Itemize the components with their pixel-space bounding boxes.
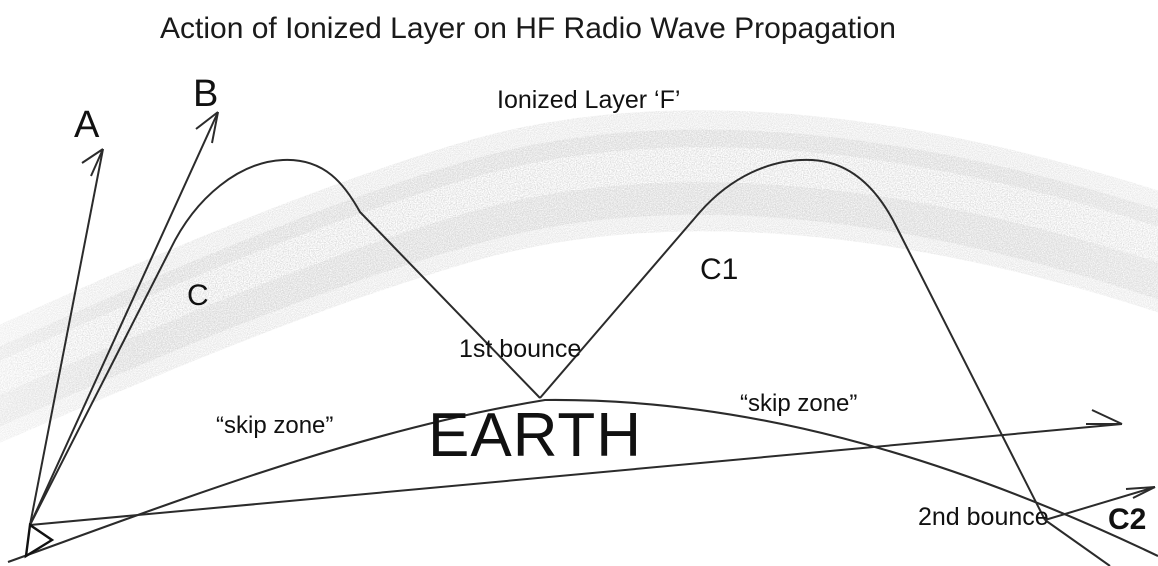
- skip-zone-label-right: “skip zone”: [740, 392, 857, 416]
- ray-label-b: B: [193, 75, 218, 113]
- skip-zone-label-left: “skip zone”: [216, 414, 333, 438]
- propagation-diagram-svg: [0, 0, 1158, 566]
- second-bounce-label: 2nd bounce: [918, 505, 1049, 530]
- ray-past-second-bounce: [1045, 520, 1110, 566]
- first-bounce-label: 1st bounce: [459, 337, 581, 362]
- hop-label-c1: C1: [700, 255, 738, 285]
- page-title: Action of Ionized Layer on HF Radio Wave…: [160, 14, 896, 44]
- ionized-layer-label: Ionized Layer ‘F’: [497, 88, 680, 113]
- ray-label-a: A: [74, 106, 99, 144]
- ray-label-c: C: [187, 281, 209, 311]
- hop-label-c2: C2: [1108, 505, 1146, 535]
- earth-label: EARTH: [428, 405, 642, 467]
- diagram-canvas: Action of Ionized Layer on HF Radio Wave…: [0, 0, 1158, 566]
